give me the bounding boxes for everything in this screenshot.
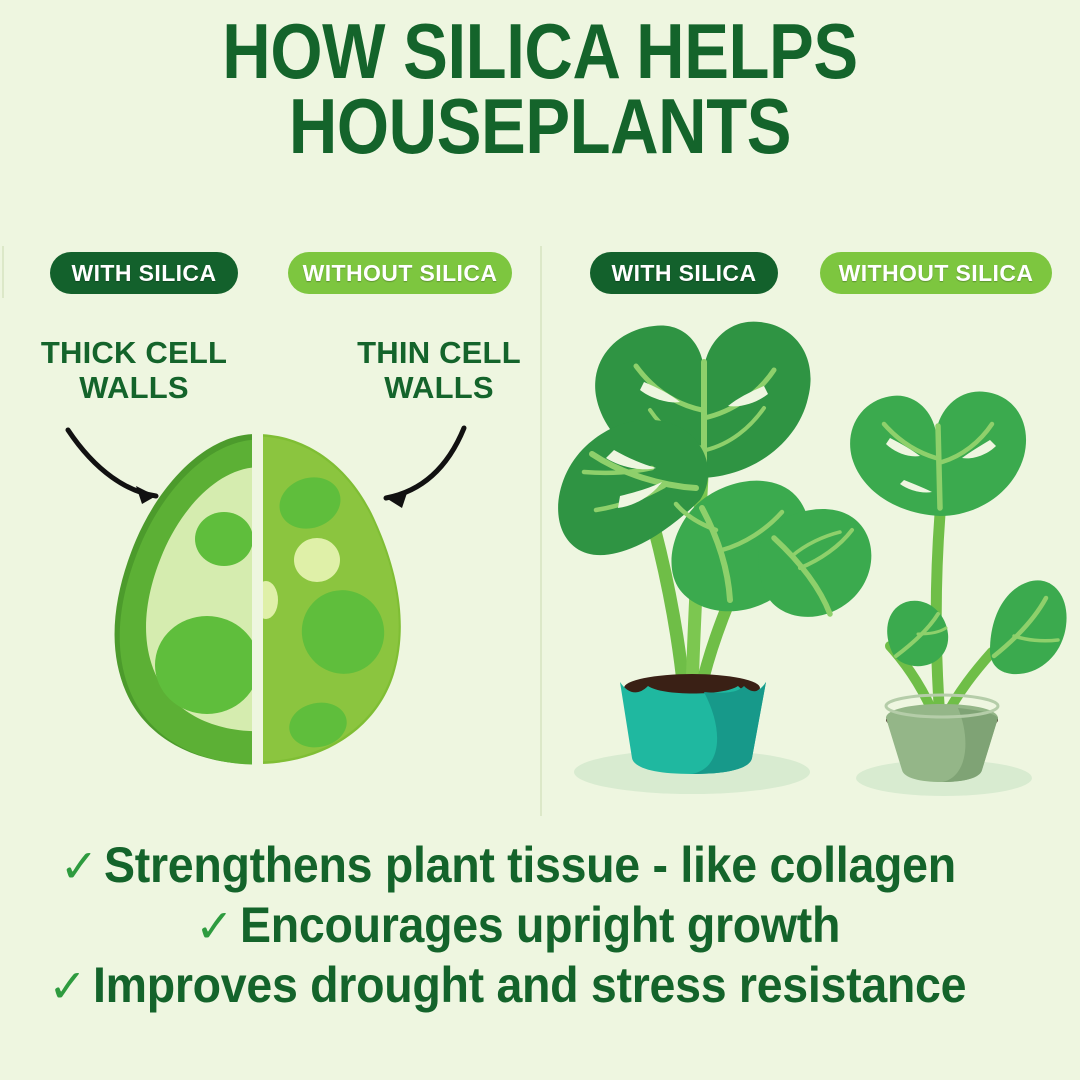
check-mark-icon: ✓ xyxy=(48,963,87,1009)
leaf-right xyxy=(758,509,871,617)
benefit-item: ✓ Encourages upright growth xyxy=(0,898,1080,952)
plant-comparison-illustration xyxy=(552,300,1072,810)
benefit-label: Improves drought and stress resistance xyxy=(93,958,966,1012)
panel-edge-left xyxy=(2,246,4,298)
badge-cell-with-silica: WITH SILICA xyxy=(50,252,238,294)
check-mark-icon: ✓ xyxy=(195,903,234,949)
curved-arrow-right-icon xyxy=(68,430,156,504)
organelle-small xyxy=(195,512,253,566)
callout-thin-cell-walls: THIN CELL WALLS xyxy=(334,336,544,405)
leaf-top xyxy=(850,391,1026,516)
check-mark-icon: ✓ xyxy=(60,843,99,889)
callout-thick-cell-walls: THICK CELL WALLS xyxy=(14,336,254,405)
benefits-list: ✓ Strengthens plant tissue - like collag… xyxy=(0,838,1080,1018)
benefit-item: ✓ Improves drought and stress resistance xyxy=(0,958,1080,1012)
benefit-item: ✓ Strengthens plant tissue - like collag… xyxy=(0,838,1080,892)
panel-divider xyxy=(540,246,542,816)
benefit-label: Encourages upright growth xyxy=(240,898,840,952)
badge-plant-with-silica: WITH SILICA xyxy=(590,252,778,294)
infographic-root: HOW SILICA HELPS HOUSEPLANTS WITH SILICA… xyxy=(0,0,1080,1080)
healthy-monstera xyxy=(558,322,871,794)
benefit-label: Strengthens plant tissue - like collagen xyxy=(104,838,956,892)
page-title: HOW SILICA HELPS HOUSEPLANTS xyxy=(76,14,1005,164)
organelle-large xyxy=(155,616,259,714)
badge-plant-without-silica: WITHOUT SILICA xyxy=(820,252,1052,294)
cell-split-gap xyxy=(253,424,263,772)
weak-monstera xyxy=(850,391,1066,796)
cell-blob-pale xyxy=(294,538,340,582)
leaf-right xyxy=(990,580,1067,674)
badge-cell-without-silica: WITHOUT SILICA xyxy=(288,252,512,294)
plant-cell-diagram xyxy=(10,400,530,820)
curved-arrow-left-icon xyxy=(386,428,464,508)
